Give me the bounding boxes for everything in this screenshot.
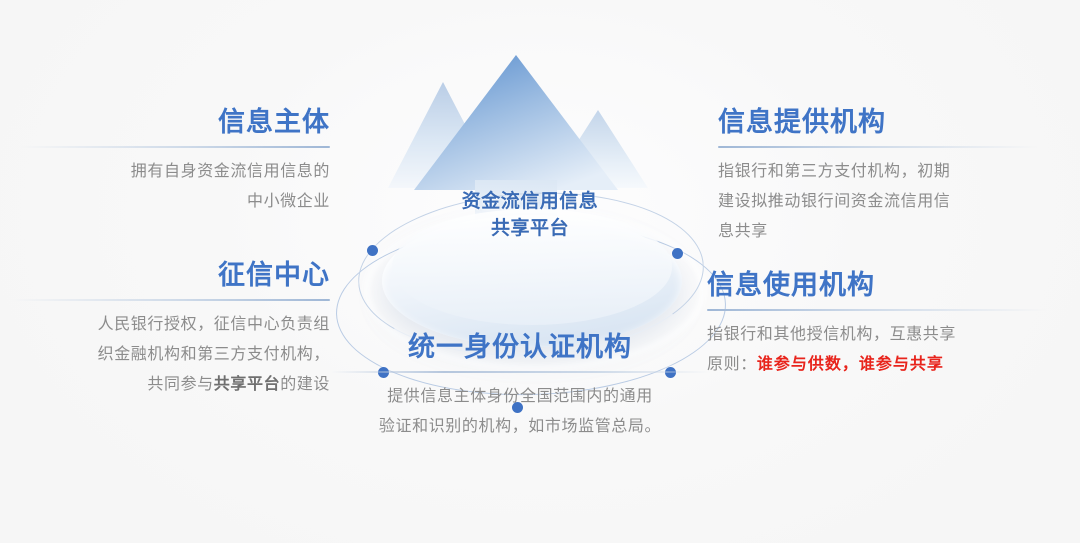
body-information-provider: 指银行和第三方支付机构，初期 建设拟推动银行间资金流信用信 息共享: [718, 157, 1038, 247]
heading-information-subject: 信息主体: [20, 105, 330, 139]
heading-divider: [330, 371, 710, 373]
block-information-user: 信息使用机构 指银行和其他授信机构，互惠共享 原则：谁参与供数，谁参与共享: [707, 268, 1047, 380]
body-line: 息共享: [718, 217, 1038, 247]
block-information-provider: 信息提供机构 指银行和第三方支付机构，初期 建设拟推动银行间资金流信用信 息共享: [718, 105, 1038, 247]
center-title-line2: 共享平台: [330, 215, 730, 242]
heading-divider: [718, 146, 1038, 148]
body-highlight-red: 谁参与供数，谁参与共享: [757, 356, 944, 373]
center-title: 资金流信用信息 共享平台: [330, 188, 730, 242]
central-platform-graphic: 资金流信用信息 共享平台: [330, 40, 730, 340]
body-line: 指银行和其他授信机构，互惠共享: [707, 320, 1047, 350]
body-text-pre: 共同参与: [147, 376, 213, 393]
heading-credit-center: 征信中心: [10, 258, 330, 292]
body-line: 拥有自身资金流信用信息的: [20, 157, 330, 187]
heading-divider: [707, 309, 1047, 311]
body-line-with-highlight: 原则：谁参与供数，谁参与共享: [707, 350, 1047, 380]
heading-unified-identity-authority: 统一身份认证机构: [330, 330, 710, 364]
body-line: 指银行和第三方支付机构，初期: [718, 157, 1038, 187]
body-text-pre: 原则：: [707, 356, 757, 373]
block-information-subject: 信息主体 拥有自身资金流信用信息的 中小微企业: [20, 105, 330, 217]
orbit-dot-top-left: [367, 245, 378, 256]
body-emphasis: 共享平台: [214, 376, 280, 393]
heading-divider: [10, 299, 330, 301]
body-credit-center: 人民银行授权，征信中心负责组 织金融机构和第三方支付机构， 共同参与共享平台的建…: [10, 310, 330, 400]
body-line: 建设拟推动银行间资金流信用信: [718, 187, 1038, 217]
diagram-canvas: 资金流信用信息 共享平台 信息主体 拥有自身资金流信用信息的 中小微企业 征信中…: [0, 0, 1080, 543]
center-title-line1: 资金流信用信息: [330, 188, 730, 215]
heading-divider: [20, 146, 330, 148]
block-unified-identity-authority: 统一身份认证机构 提供信息主体身份全国范围内的通用 验证和识别的机构，如市场监管…: [330, 330, 710, 442]
body-line: 中小微企业: [20, 187, 330, 217]
block-credit-center: 征信中心 人民银行授权，征信中心负责组 织金融机构和第三方支付机构， 共同参与共…: [10, 258, 330, 400]
body-line: 织金融机构和第三方支付机构，: [10, 340, 330, 370]
body-information-subject: 拥有自身资金流信用信息的 中小微企业: [20, 157, 330, 217]
body-line: 人民银行授权，征信中心负责组: [10, 310, 330, 340]
body-line: 提供信息主体身份全国范围内的通用: [330, 382, 710, 412]
body-text-post: 的建设: [280, 376, 330, 393]
heading-information-user: 信息使用机构: [707, 268, 1047, 302]
body-line-with-emphasis: 共同参与共享平台的建设: [10, 370, 330, 400]
body-line: 验证和识别的机构，如市场监管总局。: [330, 412, 710, 442]
body-information-user: 指银行和其他授信机构，互惠共享 原则：谁参与供数，谁参与共享: [707, 320, 1047, 380]
orbit-dot-top-right: [672, 248, 683, 259]
body-unified-identity-authority: 提供信息主体身份全国范围内的通用 验证和识别的机构，如市场监管总局。: [330, 382, 710, 442]
heading-information-provider: 信息提供机构: [718, 105, 1038, 139]
